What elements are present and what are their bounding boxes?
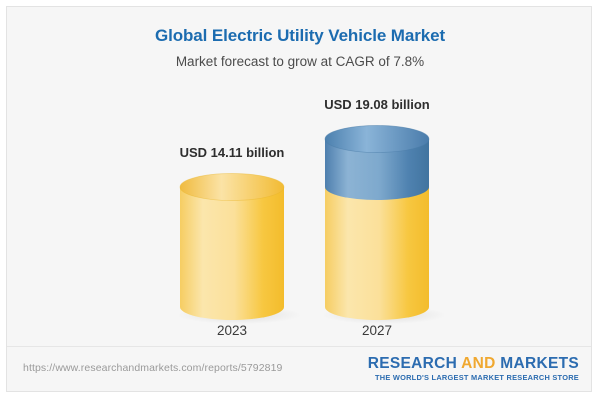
bar-2027-body-yellow: [325, 187, 429, 320]
chart-area: Global Electric Utility Vehicle Market M…: [7, 7, 592, 347]
bar-value-label-2027: USD 19.08 billion: [295, 97, 459, 112]
logo-word-markets: MARKETS: [496, 355, 579, 372]
research-and-markets-logo[interactable]: RESEARCH AND MARKETS THE WORLD'S LARGEST…: [368, 355, 579, 383]
bar-value-label-2023: USD 14.11 billion: [150, 145, 314, 160]
footer: https://www.researchandmarkets.com/repor…: [7, 346, 592, 391]
logo-tagline: THE WORLD'S LARGEST MARKET RESEARCH STOR…: [368, 373, 579, 383]
bar-2023[interactable]: [180, 174, 284, 321]
logo-word-and: AND: [461, 355, 495, 372]
category-label-2023: 2023: [170, 323, 294, 338]
report-url[interactable]: https://www.researchandmarkets.com/repor…: [23, 362, 282, 374]
infographic-card: Global Electric Utility Vehicle Market M…: [6, 6, 592, 392]
logo-wordmark: RESEARCH AND MARKETS: [368, 355, 579, 372]
bar-2023-body: [180, 187, 284, 320]
category-label-2027: 2027: [315, 323, 439, 338]
logo-word-research: RESEARCH: [368, 355, 461, 372]
bar-chart-graphic: [7, 7, 592, 347]
bar-2027[interactable]: [325, 126, 429, 321]
